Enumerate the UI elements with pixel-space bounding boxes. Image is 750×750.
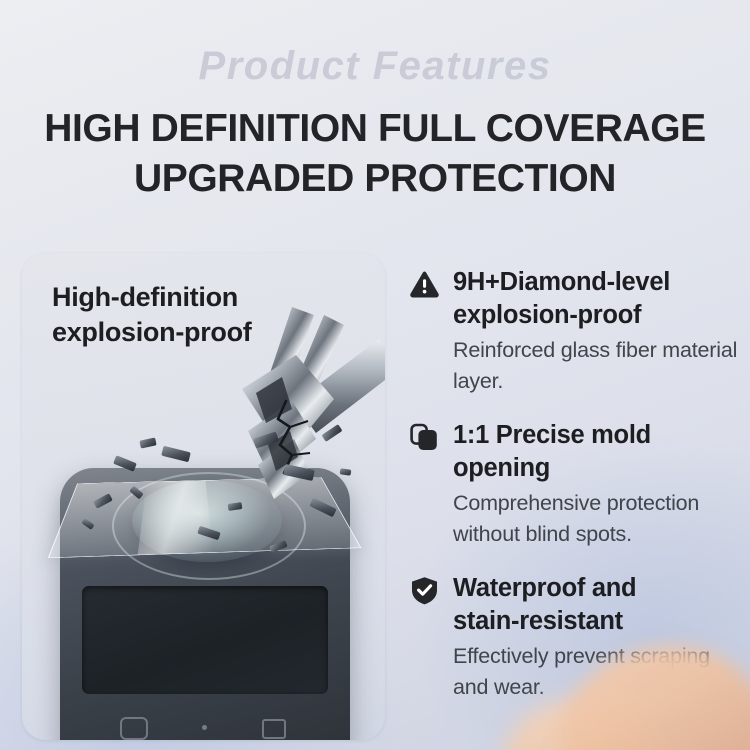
product-photo-card: High-definition explosion-proof [22, 253, 385, 740]
headline-line-1: HIGH DEFINITION FULL COVERAGE [0, 104, 750, 154]
feature-title: Waterproof and stain-resistant [453, 572, 636, 638]
shield-check-icon [409, 575, 440, 606]
phone-screen [82, 586, 328, 694]
feature-title-line-1: 1:1 Precise mold [453, 421, 651, 449]
watermark-title: Product Features [0, 44, 750, 89]
layers-copy-icon [409, 422, 440, 453]
glass-debris-shard [139, 437, 156, 448]
feature-title: 9H+Diamond-level explosion-proof [453, 266, 670, 332]
phone-home-button-icon [120, 717, 148, 740]
feature-item-precise-mold: 1:1 Precise mold opening Comprehensive p… [409, 419, 744, 550]
feature-title-line-1: 9H+Diamond-level [453, 268, 670, 296]
feature-heading: Waterproof and stain-resistant [409, 572, 744, 638]
headline-line-2: UPGRADED PROTECTION [0, 154, 750, 204]
feature-title-line-2: stain-resistant [453, 607, 623, 635]
hammer-illustration [174, 281, 385, 541]
phone-recents-button-icon [262, 719, 286, 739]
feature-heading: 1:1 Precise mold opening [409, 419, 744, 485]
warning-triangle-icon [409, 269, 440, 300]
feature-title-line-2: opening [453, 454, 550, 482]
feature-title-line-2: explosion-proof [453, 301, 641, 329]
feature-description: Reinforced glass fiber material layer. [453, 335, 744, 397]
feature-title: 1:1 Precise mold opening [453, 419, 651, 485]
phone-sensor-dot [202, 725, 207, 730]
feature-heading: 9H+Diamond-level explosion-proof [409, 266, 744, 332]
feature-item-explosion-proof: 9H+Diamond-level explosion-proof Reinfor… [409, 266, 744, 397]
feature-description: Comprehensive protection without blind s… [453, 488, 744, 550]
feature-title-line-1: Waterproof and [453, 574, 636, 602]
product-feature-banner: Product Features HIGH DEFINITION FULL CO… [0, 0, 750, 750]
page-title: HIGH DEFINITION FULL COVERAGE UPGRADED P… [0, 104, 750, 204]
